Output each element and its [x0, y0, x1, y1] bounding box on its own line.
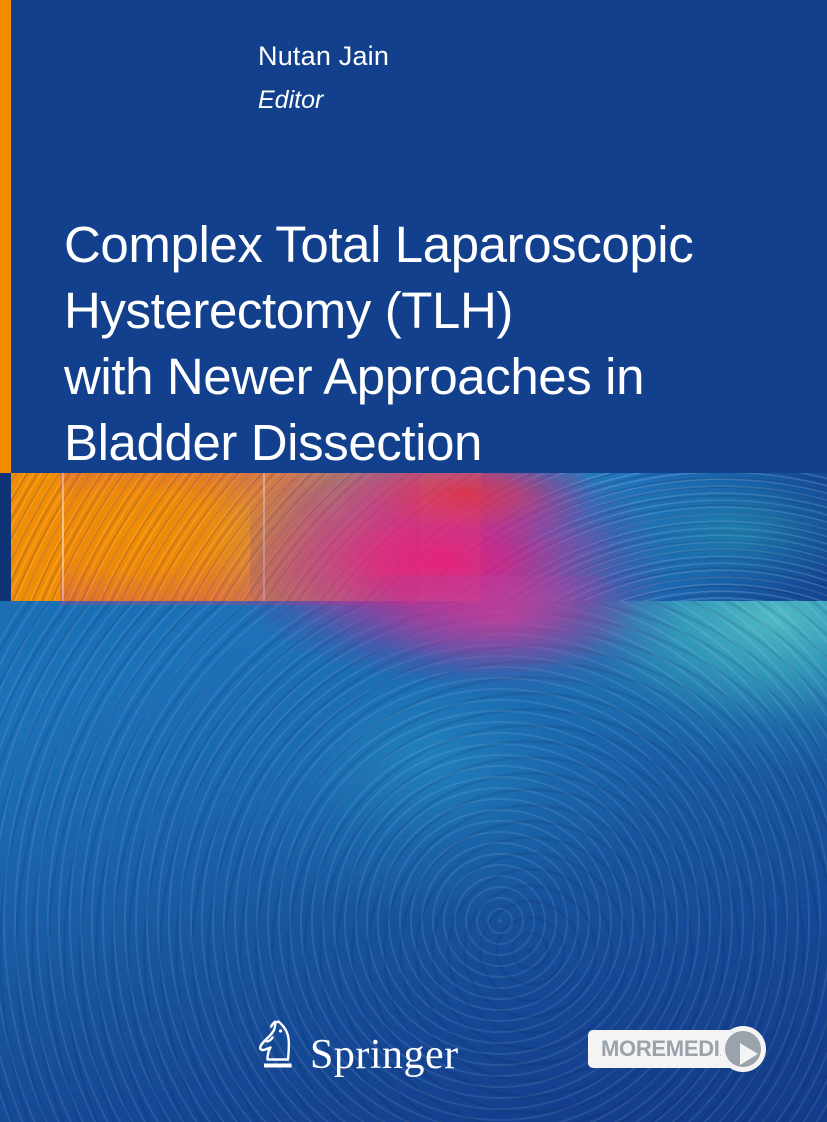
band-rule-left [62, 473, 64, 601]
author-role: Editor [258, 85, 323, 115]
moremedia-label: MOREMEDIA [601, 1036, 727, 1062]
book-cover: Nutan Jain Editor Complex Total Laparosc… [0, 0, 827, 1122]
spine-stripe-dark [0, 473, 11, 601]
title-line-2: Hysterectomy (TLH) [64, 278, 764, 344]
band-ripples-dark [11, 473, 827, 601]
moremedia-play-button[interactable] [720, 1026, 766, 1072]
springer-knight-icon [253, 1017, 299, 1077]
title-line-4: Bladder Dissection [64, 410, 764, 476]
band-rule-mid [263, 473, 265, 601]
teal-highlight [407, 601, 827, 861]
moremedia-badge[interactable]: MOREMEDIA [588, 1026, 766, 1072]
spine-stripe-orange [0, 0, 11, 473]
publisher-logo: Springer [253, 1017, 459, 1077]
title-line-1: Complex Total Laparoscopic [64, 212, 764, 278]
page-title: Complex Total Laparoscopic Hysterectomy … [64, 212, 764, 476]
color-band-artwork [11, 473, 827, 601]
play-icon [725, 1031, 761, 1067]
play-triangle [740, 1043, 758, 1065]
author-name: Nutan Jain [258, 40, 389, 73]
title-line-3: with Newer Approaches in [64, 344, 764, 410]
publisher-name: Springer [310, 1033, 459, 1077]
